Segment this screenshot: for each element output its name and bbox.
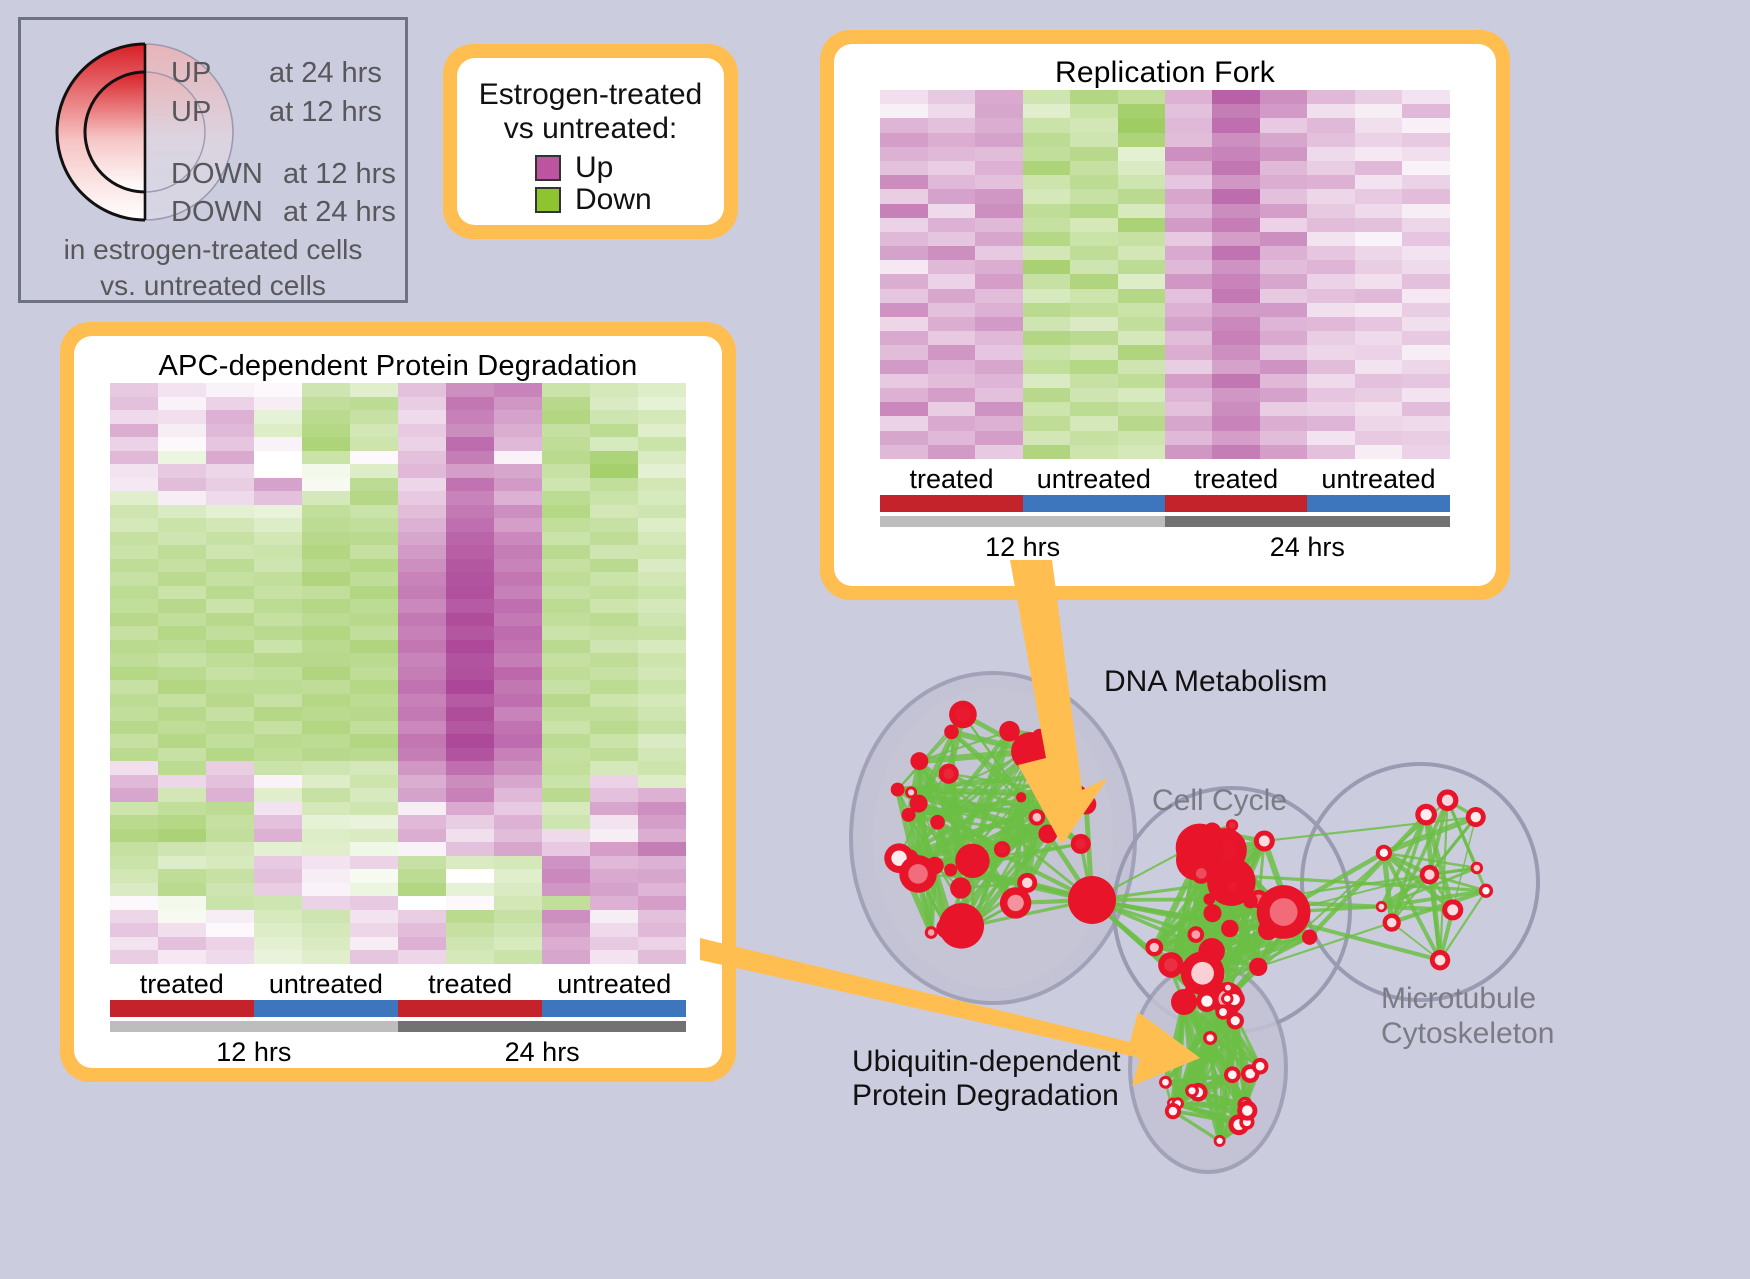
heatmap-cell [350, 802, 398, 816]
heatmap-cell [446, 640, 494, 654]
heatmap-cell [1402, 260, 1449, 274]
heatmap-cell [928, 388, 975, 402]
heatmap-cell [1212, 133, 1259, 147]
heatmap-cell [350, 815, 398, 829]
heatmap-cell [302, 842, 350, 856]
heatmap-cell [398, 896, 446, 910]
heatmap-cell [1402, 218, 1449, 232]
network-node [891, 783, 905, 797]
heatmap-cell [302, 761, 350, 775]
heatmap-cell [110, 937, 158, 951]
heatmap-cell [350, 437, 398, 451]
heatmap-cell [928, 246, 975, 260]
network-node [1376, 901, 1387, 912]
heatmap-cell [1402, 189, 1449, 203]
heatmap-cell [880, 246, 927, 260]
heatmap-cell [1212, 260, 1259, 274]
heatmap-cell [398, 950, 446, 964]
heatmap-cell [494, 424, 542, 438]
heatmap-cell [1402, 445, 1449, 459]
heatmap-cell [446, 788, 494, 802]
heatmap-cell [350, 424, 398, 438]
network-node [1000, 887, 1031, 918]
heatmap-cell [206, 869, 254, 883]
heatmap-cell [1402, 388, 1449, 402]
heatmap-cell [398, 599, 446, 613]
heatmap-cell [1070, 445, 1117, 459]
heatmap-cell [350, 626, 398, 640]
heatmap-cell [975, 374, 1022, 388]
heatmap-cell [1260, 360, 1307, 374]
heatmap-cell [1118, 189, 1165, 203]
heatmap-cell [494, 397, 542, 411]
time-color-swatch [880, 516, 1165, 527]
heatmap-cell [302, 734, 350, 748]
heatmap-cell [1402, 345, 1449, 359]
heatmap-cell [302, 559, 350, 573]
heatmap-cell [110, 775, 158, 789]
heatmap-cell [206, 640, 254, 654]
heatmap-cell [302, 694, 350, 708]
network-node [1203, 904, 1221, 922]
time-label: 24 hrs [1165, 527, 1450, 563]
heatmap-cell [1212, 274, 1259, 288]
heatmap-cell [110, 869, 158, 883]
heatmap-cell [398, 437, 446, 451]
heatmap-cell [1165, 402, 1212, 416]
heatmap-cell [1307, 104, 1354, 118]
heatmap-cell [590, 532, 638, 546]
heatmap-cell [302, 721, 350, 735]
heatmap-cell [494, 383, 542, 397]
heatmap-cell [1070, 388, 1117, 402]
heatmap-cell [542, 842, 590, 856]
heatmap-cell [1212, 204, 1259, 218]
heatmap-cell [494, 950, 542, 964]
heatmap-cell [446, 424, 494, 438]
heatmap-cell [1023, 431, 1070, 445]
heatmap-cell [1070, 345, 1117, 359]
heatmap-cell [1070, 175, 1117, 189]
heatmap-cell [110, 478, 158, 492]
heatmap-cell [928, 317, 975, 331]
heatmap-cell [1118, 133, 1165, 147]
legend-swatch-up [535, 155, 561, 181]
heatmap-cell [350, 451, 398, 465]
heatmap-cell [880, 445, 927, 459]
heatmap-cell [1212, 402, 1259, 416]
heatmap-cell [1355, 133, 1402, 147]
heatmap-cell [446, 599, 494, 613]
heatmap-cell [494, 734, 542, 748]
heatmap-cell [206, 707, 254, 721]
heatmap-cell [446, 829, 494, 843]
key-row-0-time: at 24 hrs [269, 57, 382, 90]
heatmap-cell [542, 572, 590, 586]
heatmap-cell [254, 572, 302, 586]
heatmap-cell [1402, 147, 1449, 161]
heatmap-cell [350, 478, 398, 492]
legend-item-down: Down [535, 185, 724, 215]
heatmap-cell [398, 761, 446, 775]
heatmap-cell [446, 842, 494, 856]
heatmap-cell [206, 383, 254, 397]
heatmap-cell [110, 721, 158, 735]
heatmap-cell [542, 478, 590, 492]
heatmap-cell [302, 869, 350, 883]
heatmap-cell [590, 815, 638, 829]
heatmap-cell [1118, 274, 1165, 288]
heatmap-cell [110, 464, 158, 478]
legend-label-up: Up [575, 153, 613, 183]
heatmap-cell [542, 883, 590, 897]
heatmap-cell [542, 775, 590, 789]
heatmap-cell [1023, 402, 1070, 416]
heatmap-cell [446, 910, 494, 924]
heatmap-cell [446, 937, 494, 951]
network-node [1430, 950, 1450, 970]
heatmap-cell [590, 586, 638, 600]
network-node [1437, 789, 1459, 811]
heatmap-cell [158, 775, 206, 789]
heatmap-cell [1118, 289, 1165, 303]
heatmap-cell [494, 491, 542, 505]
heatmap-cell [302, 410, 350, 424]
heatmap-cell [1165, 345, 1212, 359]
heatmap-cell [158, 883, 206, 897]
heatmap-cell [928, 274, 975, 288]
heatmap-cell [975, 445, 1022, 459]
key-row-2-label: DOWN [171, 158, 263, 191]
heatmap-cell [254, 707, 302, 721]
heatmap-cell [590, 572, 638, 586]
network-node [1376, 845, 1392, 861]
heatmap-cell [206, 694, 254, 708]
heatmap-cell [206, 478, 254, 492]
heatmap-cell [1355, 90, 1402, 104]
heatmap-cell [302, 518, 350, 532]
heatmap-cell [110, 788, 158, 802]
heatmap-cell [446, 586, 494, 600]
heatmap-cell [638, 721, 686, 735]
heatmap-cell [398, 626, 446, 640]
heatmap-cell [350, 869, 398, 883]
heatmap-cell [590, 748, 638, 762]
color-key-box: UP at 24 hrs UP at 12 hrs DOWN at 12 hrs… [18, 17, 408, 303]
heatmap-cell [398, 937, 446, 951]
heatmap-cell [1402, 104, 1449, 118]
heatmap-cell [975, 118, 1022, 132]
heatmap-cell [110, 383, 158, 397]
heatmap-cell [446, 505, 494, 519]
heatmap-cell [590, 613, 638, 627]
time-color-swatch [1165, 516, 1450, 527]
heatmap-cell [1023, 331, 1070, 345]
heatmap-cell [254, 950, 302, 964]
heatmap-cell [880, 416, 927, 430]
heatmap-cell [206, 937, 254, 951]
heatmap-cell [398, 802, 446, 816]
heatmap-cell [254, 613, 302, 627]
heatmap-cell [158, 721, 206, 735]
heatmap-cell [494, 437, 542, 451]
group-label: treated [1165, 459, 1307, 495]
legend-item-up: Up [535, 153, 724, 183]
heatmap-cell [542, 680, 590, 694]
heatmap-cell [398, 572, 446, 586]
heatmap-cell [494, 626, 542, 640]
heatmap-cell [350, 653, 398, 667]
heatmap-cell [158, 856, 206, 870]
heatmap-cell [928, 260, 975, 274]
heatmap-cell [398, 883, 446, 897]
heatmap-cell [590, 383, 638, 397]
heatmap-cell [1355, 118, 1402, 132]
heatmap-cell [158, 680, 206, 694]
heatmap-cell [398, 680, 446, 694]
heatmap-cell [542, 626, 590, 640]
heatmap-cell [254, 586, 302, 600]
key-row-0-label: UP [171, 57, 211, 90]
heatmap-cell [1165, 147, 1212, 161]
heatmap-cell [254, 559, 302, 573]
heatmap-cell [398, 829, 446, 843]
heatmap-cell [638, 775, 686, 789]
time-labels-replication-fork: 12 hrs24 hrs [880, 527, 1449, 563]
heatmap-cell [110, 599, 158, 613]
heatmap-cell [542, 505, 590, 519]
heatmap-cell [494, 667, 542, 681]
heatmap-cell [542, 937, 590, 951]
heatmap-cell [1023, 388, 1070, 402]
heatmap-cell [302, 451, 350, 465]
heatmap-cell [494, 451, 542, 465]
heatmap-cell [1260, 218, 1307, 232]
heatmap-cell [206, 613, 254, 627]
heatmap-cell [1023, 161, 1070, 175]
heatmap-cell [350, 518, 398, 532]
heatmap-cell [494, 653, 542, 667]
heatmap-cell [1023, 274, 1070, 288]
heatmap-cell [110, 815, 158, 829]
heatmap-cell [158, 505, 206, 519]
heatmap-cell [1023, 445, 1070, 459]
heatmap-cell [590, 518, 638, 532]
time-labels-apc: 12 hrs24 hrs [110, 1032, 687, 1068]
heatmap-cell [590, 478, 638, 492]
network-node [950, 877, 971, 898]
heatmap-cell [1402, 402, 1449, 416]
network-node [1257, 885, 1311, 939]
heatmap-cell [110, 613, 158, 627]
heatmap-cell [350, 613, 398, 627]
heatmap-cell [206, 761, 254, 775]
cluster-label-microtubule: Microtubule [1381, 982, 1554, 1017]
heatmap-cell [302, 599, 350, 613]
heatmap-cell [975, 90, 1022, 104]
heatmap-cell [158, 829, 206, 843]
heatmap-cell [1355, 104, 1402, 118]
heatmap-cell [542, 545, 590, 559]
heatmap-cell [1023, 232, 1070, 246]
heatmap-cell [1118, 118, 1165, 132]
heatmap-cell [494, 694, 542, 708]
heatmap-cell [446, 721, 494, 735]
heatmap-cell [638, 518, 686, 532]
heatmap-cell [542, 950, 590, 964]
heatmap-cell [1402, 331, 1449, 345]
heatmap-cell [158, 626, 206, 640]
legend-items: Up Down [457, 153, 724, 215]
heatmap-cell [1355, 147, 1402, 161]
heatmap-cell [302, 505, 350, 519]
heatmap-cell [638, 424, 686, 438]
group-label: treated [398, 964, 542, 1000]
heatmap-cell [1212, 303, 1259, 317]
heatmap-cell [638, 910, 686, 924]
heatmap-cell [542, 896, 590, 910]
heatmap-cell [206, 586, 254, 600]
heatmap-cell [1260, 175, 1307, 189]
heatmap-cell [494, 410, 542, 424]
heatmap-cell [302, 626, 350, 640]
heatmap-cell [110, 640, 158, 654]
heatmap-cell [1402, 133, 1449, 147]
heatmap-cell [1023, 345, 1070, 359]
heatmap-cell [542, 437, 590, 451]
group-color-swatch [542, 1000, 686, 1017]
heatmap-cell [350, 937, 398, 951]
heatmap-cell [350, 721, 398, 735]
heatmap-cell [350, 950, 398, 964]
network-node [910, 752, 928, 770]
heatmap-cell [446, 410, 494, 424]
heatmap-cell [110, 667, 158, 681]
heatmap-cell [1212, 289, 1259, 303]
heatmap-cell [590, 856, 638, 870]
heatmap-cell [158, 437, 206, 451]
heatmap-cell [350, 545, 398, 559]
heatmap-cell [206, 667, 254, 681]
heatmap-cell [1212, 331, 1259, 345]
heatmap-cell [254, 437, 302, 451]
heatmap-cell [494, 937, 542, 951]
heatmap-cell [590, 437, 638, 451]
heatmap-cell [302, 586, 350, 600]
heatmap-cell [638, 856, 686, 870]
heatmap-cell [1355, 232, 1402, 246]
heatmap-cell [1212, 232, 1259, 246]
heatmap-cell [206, 437, 254, 451]
heatmap-cell [206, 424, 254, 438]
heatmap-cell [638, 397, 686, 411]
heatmap-cell [1260, 289, 1307, 303]
heatmap-cell [158, 694, 206, 708]
heatmap-cell [302, 788, 350, 802]
heatmap-cell [158, 545, 206, 559]
heatmap-cell [880, 331, 927, 345]
heatmap-cell [590, 869, 638, 883]
heatmap-cell [1118, 175, 1165, 189]
network-node [1224, 877, 1243, 896]
heatmap-cell [110, 491, 158, 505]
heatmap-cell [1023, 189, 1070, 203]
network-node [1442, 899, 1463, 920]
heatmap-cell [1165, 445, 1212, 459]
heatmap-cell [206, 829, 254, 843]
heatmap-cell [494, 599, 542, 613]
heatmap-cell [542, 869, 590, 883]
heatmap-cell [880, 147, 927, 161]
heatmap-cell [206, 626, 254, 640]
heatmap-cell [446, 802, 494, 816]
group-color-swatch [880, 495, 1022, 512]
legend-label-down: Down [575, 185, 652, 215]
heatmap-cell [398, 559, 446, 573]
heatmap-cell [1402, 416, 1449, 430]
heatmap-cell [494, 802, 542, 816]
heatmap-cell [158, 451, 206, 465]
time-color-bar-apc [110, 1021, 687, 1032]
heatmap-cell [398, 397, 446, 411]
heatmap-cell [1355, 445, 1402, 459]
heatmap-cell [1212, 161, 1259, 175]
heatmap-cell [975, 232, 1022, 246]
heatmap-cell [1307, 431, 1354, 445]
heatmap-cell [1355, 246, 1402, 260]
heatmap-cell [254, 626, 302, 640]
heatmap-cell [206, 923, 254, 937]
heatmap-cell [542, 815, 590, 829]
heatmap-cell [110, 532, 158, 546]
heatmap-cell [302, 680, 350, 694]
heatmap-cell [1070, 402, 1117, 416]
heatmap-cell [638, 761, 686, 775]
heatmap-cell [1070, 289, 1117, 303]
heatmap-cell [590, 910, 638, 924]
heatmap-cell [638, 788, 686, 802]
heatmap-cell [206, 572, 254, 586]
heatmap-cell [302, 613, 350, 627]
heatmap-cell [542, 910, 590, 924]
heatmap-cell [206, 464, 254, 478]
heatmap-cell [398, 748, 446, 762]
heatmap-cell [638, 694, 686, 708]
heatmap-cell [1070, 431, 1117, 445]
heatmap-cell [638, 896, 686, 910]
heatmap-cell [158, 734, 206, 748]
heatmap-cell [302, 896, 350, 910]
heatmap-cell [446, 775, 494, 789]
heatmap-cell [590, 545, 638, 559]
heatmap-cell [1165, 289, 1212, 303]
heatmap-cell [302, 532, 350, 546]
heatmap-cell [975, 345, 1022, 359]
heatmap-cell [110, 437, 158, 451]
heatmap-cell [928, 90, 975, 104]
group-labels-apc: treateduntreatedtreateduntreated [110, 964, 687, 1000]
heatmap-cell [638, 653, 686, 667]
heatmap-cell [110, 883, 158, 897]
heatmap-cell [1212, 345, 1259, 359]
heatmap-cell [1212, 431, 1259, 445]
heatmap-cell [494, 532, 542, 546]
heatmap-cell [350, 464, 398, 478]
heatmap-cell [1402, 317, 1449, 331]
heatmap-cell [446, 397, 494, 411]
heatmap-cell [1260, 274, 1307, 288]
heatmap-cell [446, 572, 494, 586]
